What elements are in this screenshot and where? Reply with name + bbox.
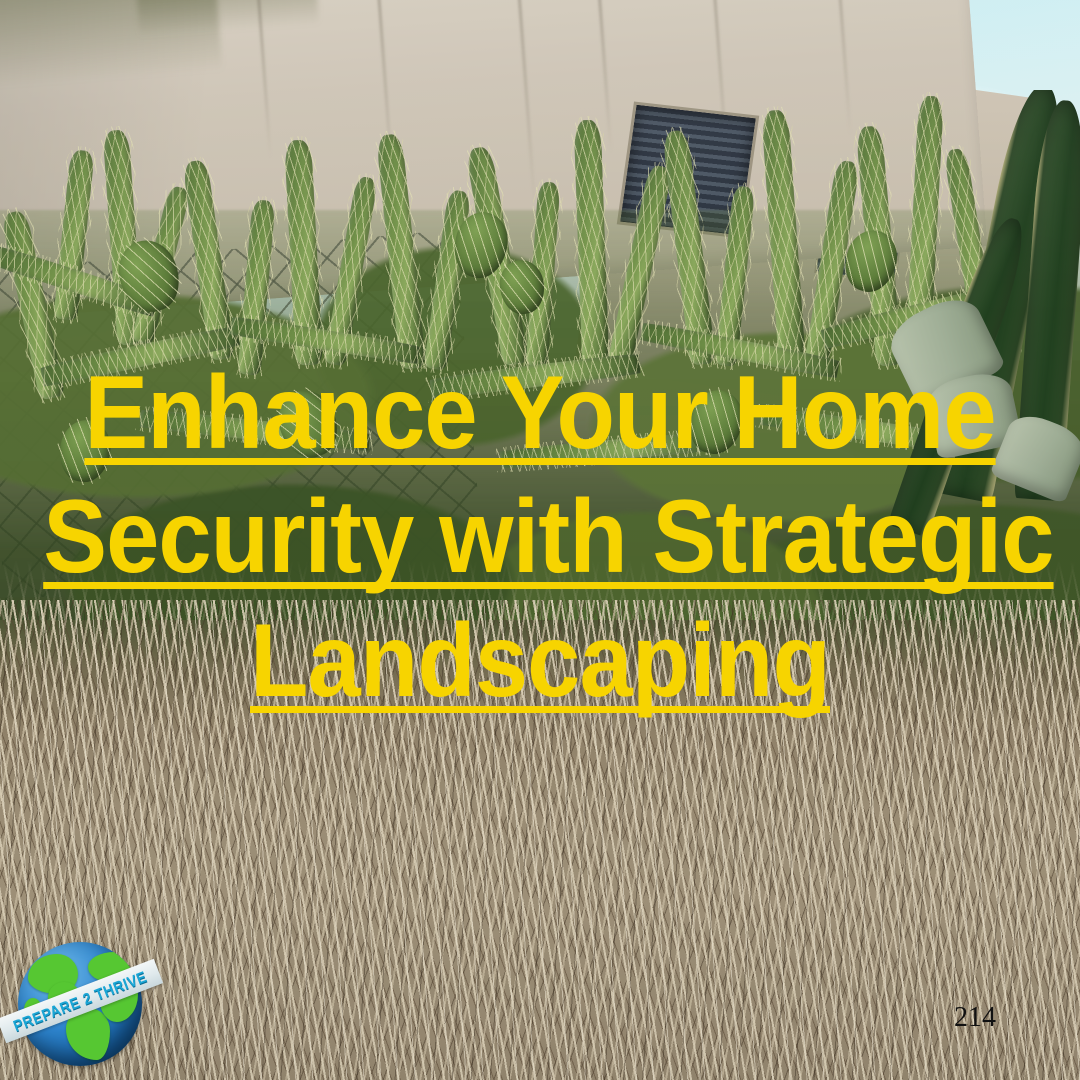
title-line-2: Security with Strategic bbox=[43, 484, 1037, 590]
poster-canvas: Enhance Your Home Security with Strategi… bbox=[0, 0, 1080, 1080]
poster-title: Enhance Your Home Security with Strategi… bbox=[0, 360, 1080, 732]
brand-logo[interactable]: PREPARE 2 THRIVE bbox=[12, 936, 148, 1072]
title-line-1: Enhance Your Home bbox=[43, 360, 1037, 466]
title-line-3: Landscaping bbox=[43, 608, 1037, 714]
page-number: 214 bbox=[954, 1002, 996, 1034]
